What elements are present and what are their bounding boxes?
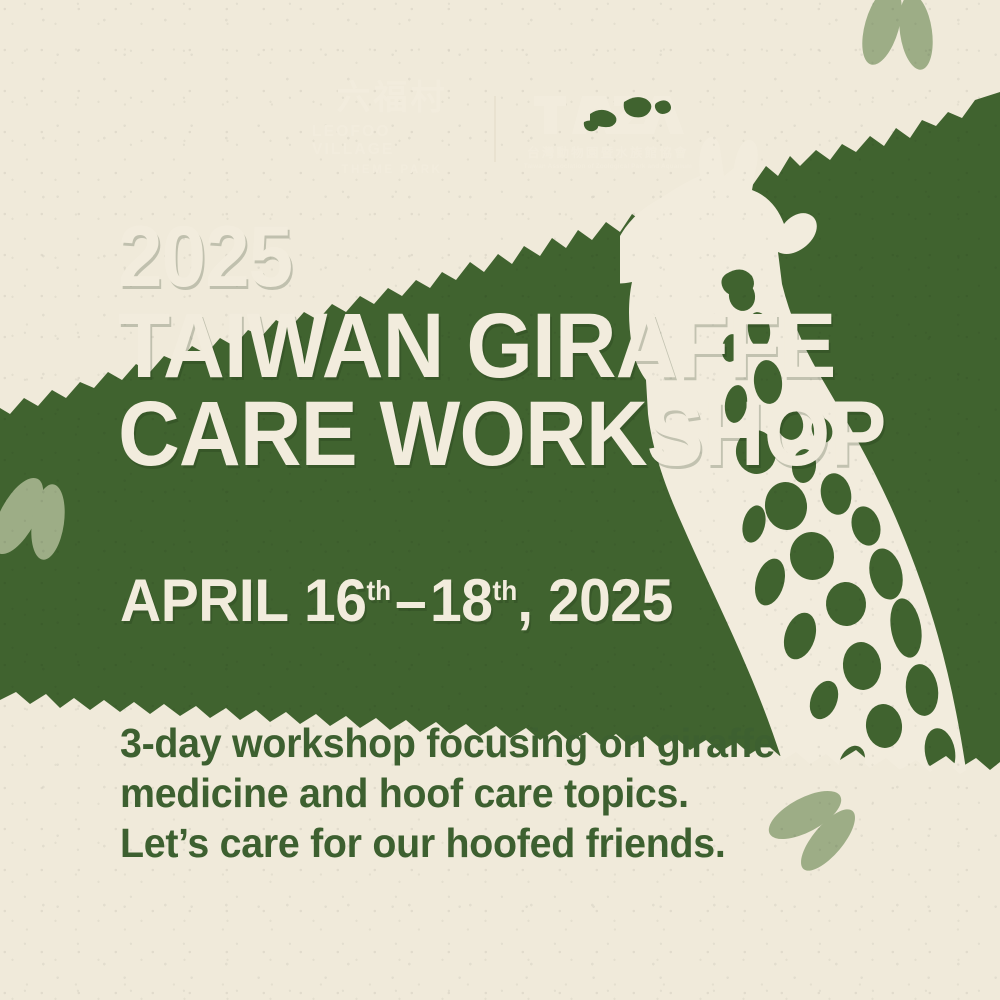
- logo-divider: [494, 96, 496, 162]
- headline-line-2: TAIWAN GIRAFFE: [118, 304, 713, 390]
- date-end-suffix: th: [492, 575, 517, 606]
- leofoo-subtitle: THEME PARK: [341, 164, 442, 176]
- taza-wordmark-icon: [532, 88, 684, 138]
- taza-chinese-name: 台灣動物園暨水族館協會: [527, 142, 689, 161]
- date-start-suffix: th: [366, 575, 391, 606]
- poster-canvas: 六福村 LEOFOO VILLAGE THEME PARK: [0, 0, 1000, 1000]
- taza-logo: 台灣動物園暨水族館協會 Taiwan Association of Zoolog…: [524, 88, 692, 170]
- description-line-3: Let’s care for our hoofed friends.: [120, 818, 734, 868]
- date-separator: –: [391, 567, 430, 634]
- event-date: APRIL 16th–18th, 2025: [120, 566, 673, 635]
- date-start-day: 16: [304, 567, 366, 634]
- date-month: APRIL: [120, 567, 289, 634]
- taza-english-name: Taiwan Association of Zoological Park an…: [524, 163, 692, 170]
- headline-line-3: CARE WORKSHOP: [118, 392, 713, 478]
- description-line-2: medicine and hoof care topics.: [120, 768, 734, 818]
- page-title: 2025 TAIWAN GIRAFFE CARE WORKSHOP: [118, 218, 758, 477]
- date-year: , 2025: [517, 567, 673, 634]
- date-end-day: 18: [430, 567, 492, 634]
- leofoo-english-name: LEOFOO VILLAGE: [312, 123, 472, 159]
- leofoo-village-logo: 六福村 LEOFOO VILLAGE THEME PARK: [312, 82, 472, 176]
- description-block: 3-day workshop focusing on giraffe medic…: [120, 718, 734, 868]
- logo-row: 六福村 LEOFOO VILLAGE THEME PARK: [312, 88, 692, 170]
- headline-year: 2025: [118, 218, 713, 298]
- description-line-1: 3-day workshop focusing on giraffe: [120, 718, 734, 768]
- leofoo-chinese-name: 六福村: [336, 82, 447, 116]
